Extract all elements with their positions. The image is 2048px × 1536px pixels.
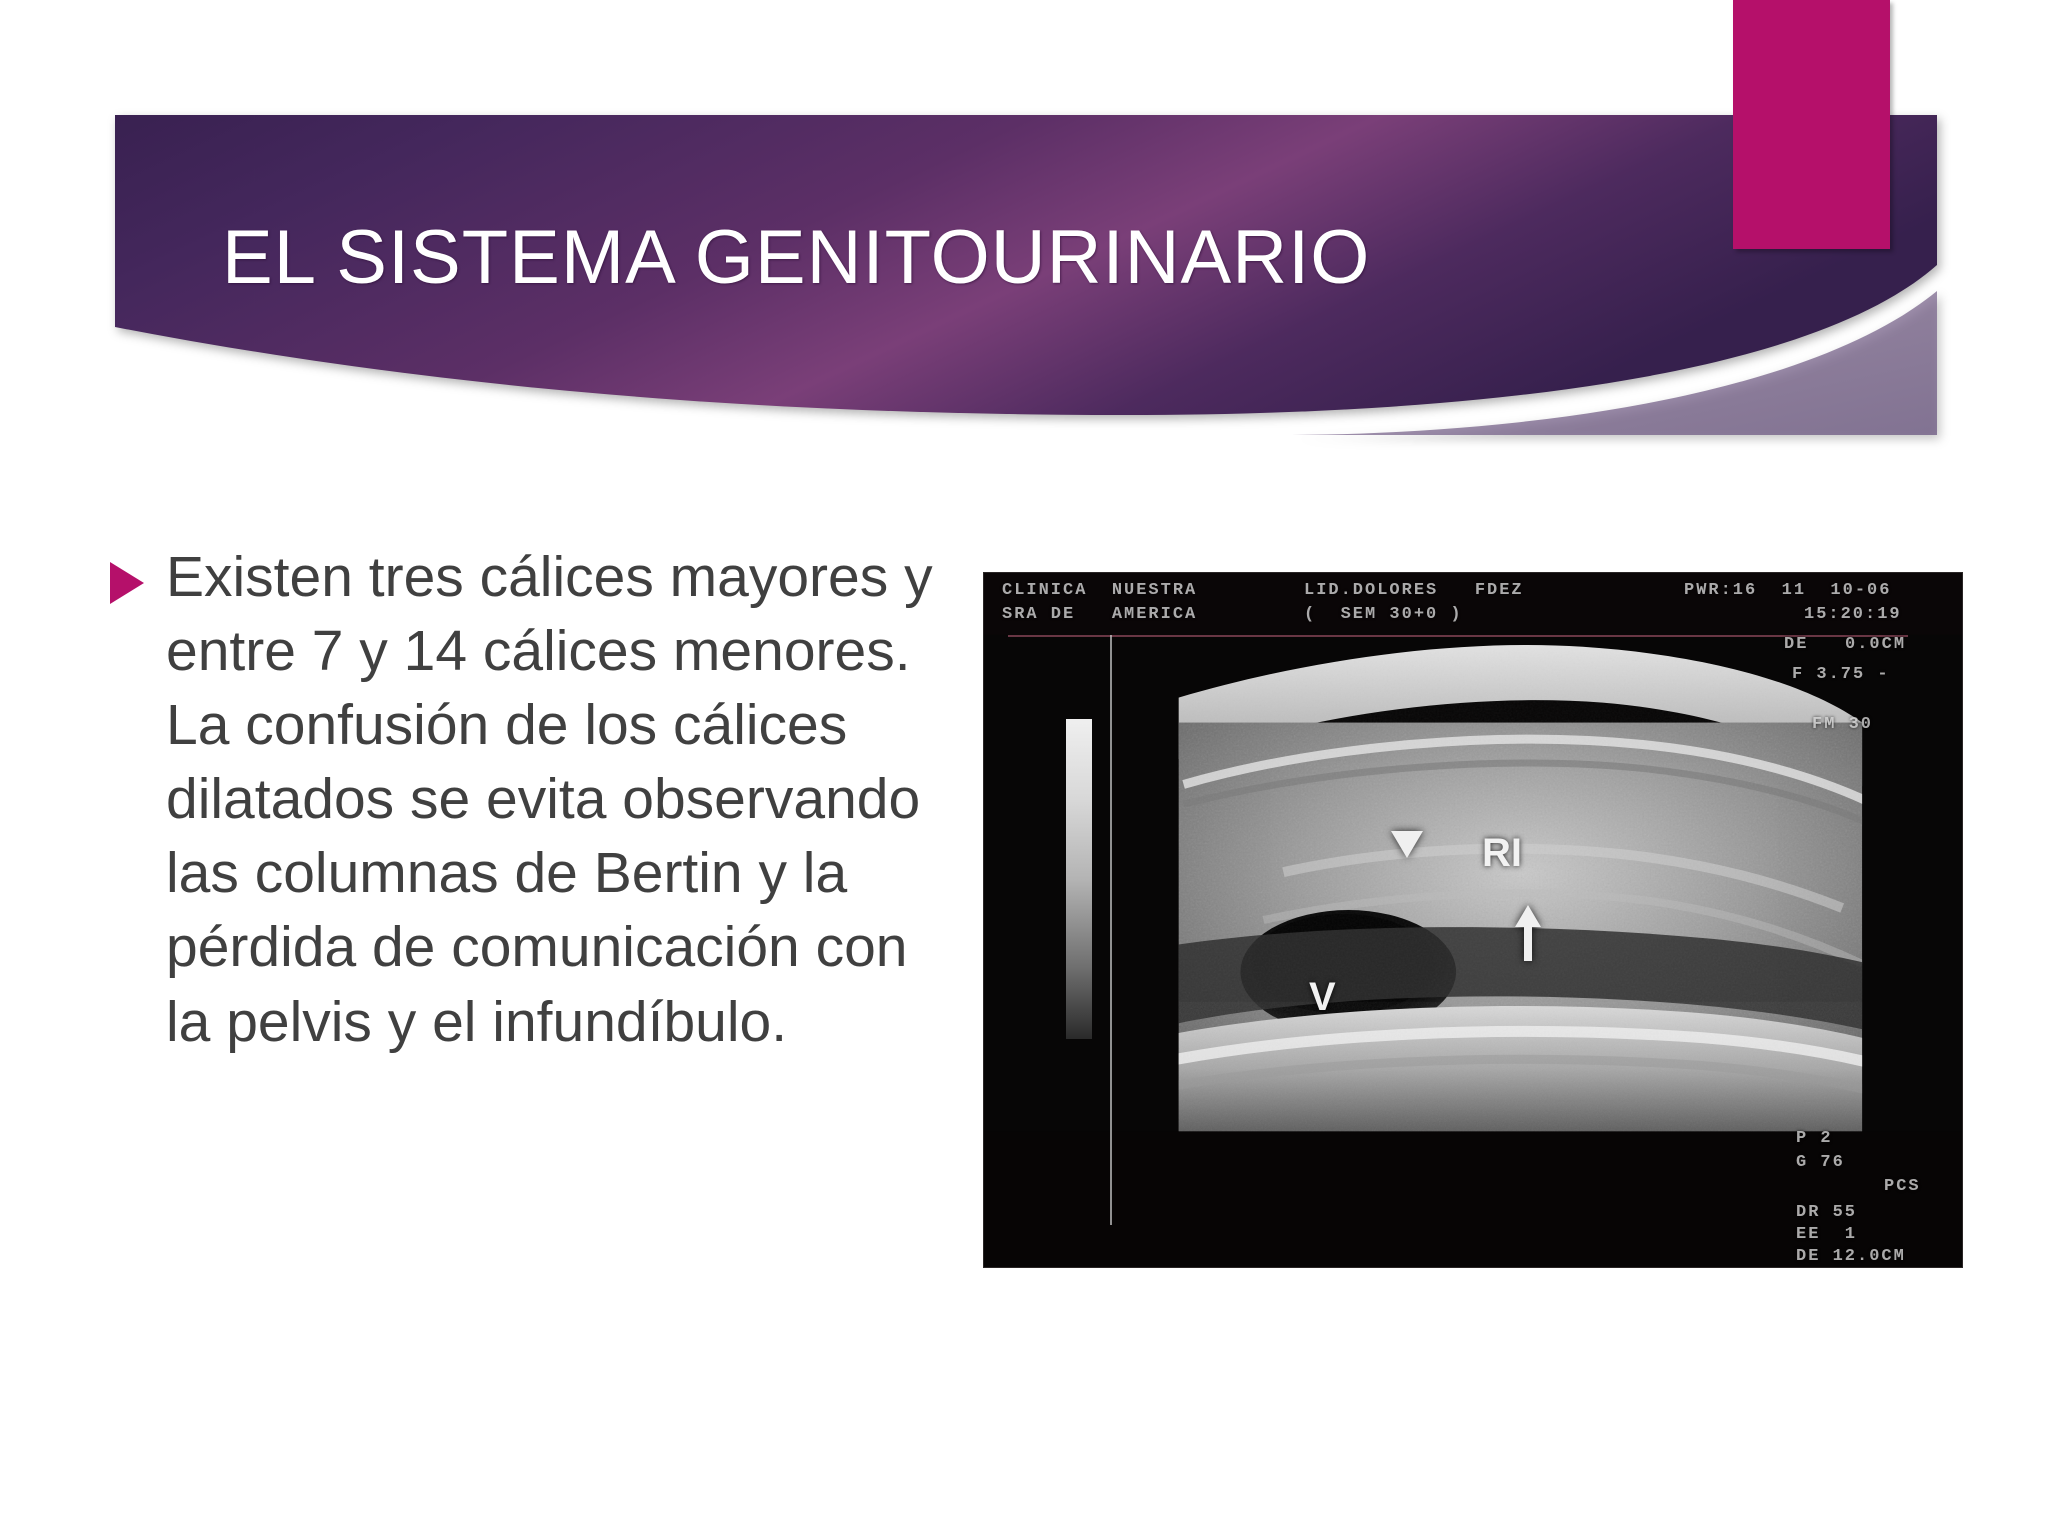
triangle-bullet-icon [110, 562, 144, 604]
header-right-line-2: 15:20:19 [1804, 605, 1902, 624]
patient-line-1: LID.DOLORES FDEZ [1304, 581, 1524, 600]
header-right-line-4: F 3.75 - [1792, 665, 1890, 684]
arrow-marker-icon [1511, 905, 1545, 961]
scale-rule [1008, 635, 1908, 637]
footer-line-4: DR 55 [1796, 1203, 1857, 1222]
footer-line-2: G 76 [1796, 1153, 1845, 1172]
footer-line-3: PCS [1884, 1177, 1921, 1196]
header-right-line-5: FM 30 [1812, 715, 1873, 734]
ri-annotation: RI [1482, 831, 1522, 876]
v-annotation: V [1309, 975, 1336, 1020]
bullet-text: Existen tres cálices mayores y entre 7 y… [166, 540, 940, 1059]
footer-line-1: P 2 [1796, 1129, 1833, 1148]
grayscale-reference-bar [1066, 719, 1092, 1039]
slide-canvas: EL SISTEMA GENITOURINARIO Existen tres c… [0, 0, 2048, 1536]
magenta-accent-bar [1733, 0, 1890, 249]
header-right-line-3: DE 0.0CM [1784, 635, 1906, 654]
ultrasound-figure: CLINICA NUESTRA SRA DE AMERICA LID.DOLOR… [983, 572, 1963, 1268]
footer-line-5: EE 1 [1796, 1225, 1857, 1244]
page-title: EL SISTEMA GENITOURINARIO [222, 218, 1722, 298]
bullet-list-item: Existen tres cálices mayores y entre 7 y… [110, 540, 940, 1059]
header-right-line-1: PWR:16 11 10-06 [1684, 581, 1891, 600]
triangle-marker-icon [1391, 831, 1423, 858]
footer-line-6: DE 12.0CM [1796, 1247, 1906, 1266]
clinic-line-2: SRA DE AMERICA [1002, 605, 1197, 624]
patient-line-2: ( SEM 30+0 ) [1304, 605, 1463, 624]
depth-scale-line [1110, 635, 1112, 1225]
clinic-line-1: CLINICA NUESTRA [1002, 581, 1197, 600]
